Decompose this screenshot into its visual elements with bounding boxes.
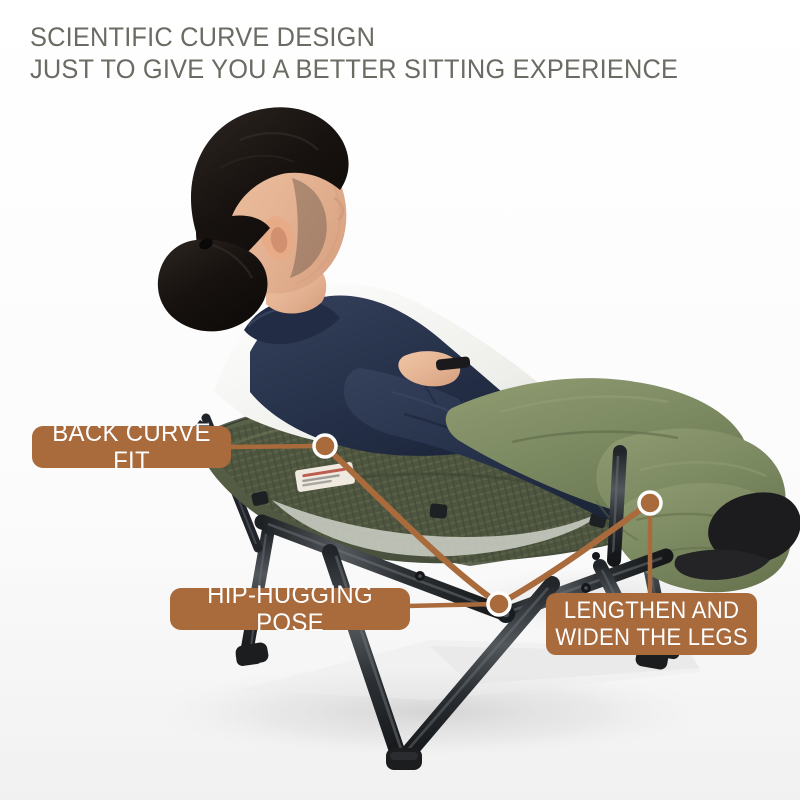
callout-dot-hip-hugging[interactable] xyxy=(488,593,510,615)
product-infographic: SCIENTIFIC CURVE DESIGN JUST TO GIVE YOU… xyxy=(0,0,800,800)
callout-hip-hugging-pose[interactable]: HIP-HUGGING POSE xyxy=(170,588,410,630)
callout-hip-hugging-pose-label: HIP-HUGGING POSE xyxy=(175,581,405,637)
callout-legs-line-1: LENGTHEN AND xyxy=(555,597,748,624)
callout-lengthen-widen-the-legs[interactable]: LENGTHEN AND WIDEN THE LEGS xyxy=(546,593,757,655)
callout-legs-line-2: WIDEN THE LEGS xyxy=(555,624,748,651)
headline: SCIENTIFIC CURVE DESIGN JUST TO GIVE YOU… xyxy=(30,22,719,86)
leader-line-hip-hugging xyxy=(406,604,496,606)
product-photo xyxy=(0,0,800,800)
callout-back-curve-fit-label: BACK CURVE FIT xyxy=(36,419,227,475)
callout-dot-lengthen-widen[interactable] xyxy=(639,492,661,514)
callout-dot-back-curve[interactable] xyxy=(314,435,336,457)
callout-lengthen-widen-the-legs-label: LENGTHEN AND WIDEN THE LEGS xyxy=(551,597,752,652)
leader-line-back-curve xyxy=(228,446,322,447)
headline-line-2: JUST TO GIVE YOU A BETTER SITTING EXPERI… xyxy=(30,54,678,86)
callout-back-curve-fit[interactable]: BACK CURVE FIT xyxy=(32,426,231,468)
headline-line-1: SCIENTIFIC CURVE DESIGN xyxy=(30,22,678,54)
